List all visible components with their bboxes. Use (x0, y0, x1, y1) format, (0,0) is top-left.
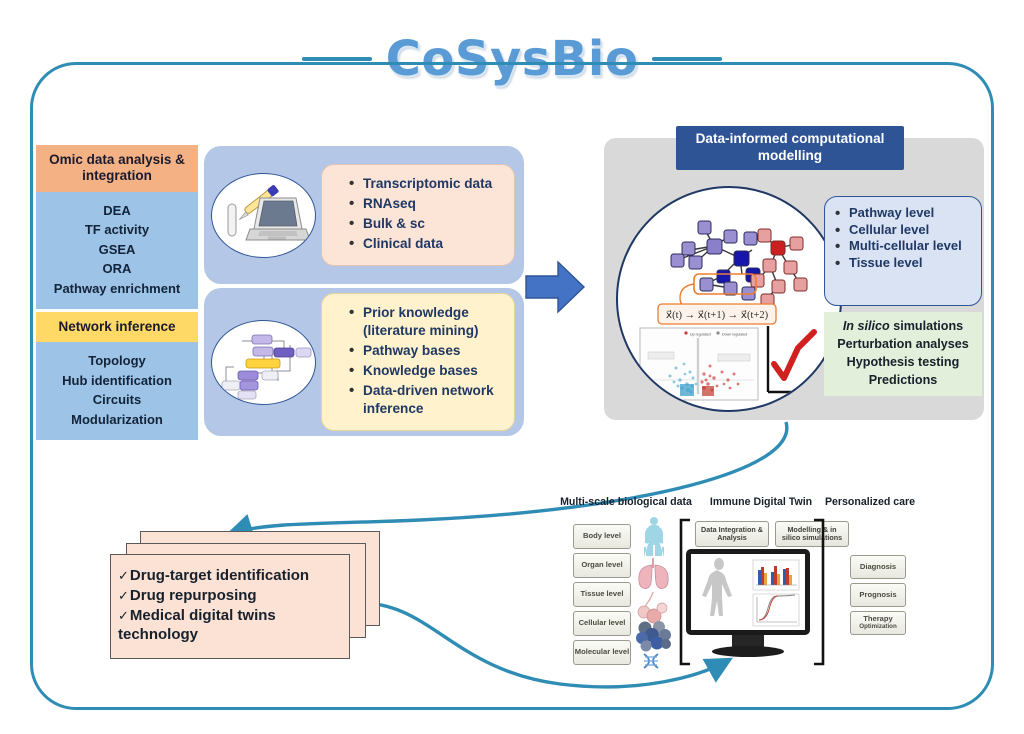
scale-level-organ: Organ level (573, 553, 631, 578)
curved-arrow-model-to-results (232, 422, 787, 533)
scale-level-molecular: Molecular level (573, 640, 631, 665)
care-therapy: Therapy Optimization (850, 611, 906, 635)
care-diagnosis: Diagnosis (850, 555, 906, 579)
monitor-screen (691, 554, 805, 630)
list-item: ✓Drug-target identification (118, 566, 348, 586)
dna-icon (644, 654, 658, 668)
result-text: Drug-target identification (130, 567, 309, 584)
care-therapy-sublabel: Optimization (859, 624, 896, 631)
list-item: ✓Drug repurposing (118, 586, 348, 606)
tissue-icon (638, 592, 667, 623)
check-icon: ✓ (118, 568, 129, 583)
result-text: Drug repurposing (130, 587, 257, 604)
dt-right-title: Personalized care (822, 496, 918, 508)
monitor-icon (686, 549, 810, 635)
list-item: technology (118, 625, 348, 645)
care-prognosis: Prognosis (850, 583, 906, 607)
scale-level-icons (632, 514, 678, 668)
result-text: technology (118, 626, 198, 643)
monitor-base (712, 646, 784, 657)
check-icon: ✓ (118, 588, 129, 603)
result-text: Medical digital twins (130, 607, 276, 624)
scale-level-body: Body level (573, 524, 631, 549)
process-data-integration: Data Integration & Analysis (695, 521, 769, 547)
dt-center-title: Immune Digital Twin (702, 496, 820, 508)
body-figure (702, 558, 732, 616)
scale-level-cellular: Cellular level (573, 611, 631, 636)
scale-level-tissue: Tissue level (573, 582, 631, 607)
care-diagnosis-label: Diagnosis (860, 563, 896, 571)
list-item: ✓Medical digital twins (118, 606, 348, 626)
check-icon: ✓ (118, 608, 129, 623)
dt-left-title: Multi-scale biological data (560, 496, 692, 508)
results-list: ✓Drug-target identification ✓Drug repurp… (118, 566, 348, 645)
human-body-icon (644, 517, 664, 557)
cells-icon (636, 621, 671, 652)
lungs-icon (639, 558, 668, 588)
care-prognosis-label: Prognosis (859, 591, 896, 599)
right-bracket (812, 518, 826, 666)
